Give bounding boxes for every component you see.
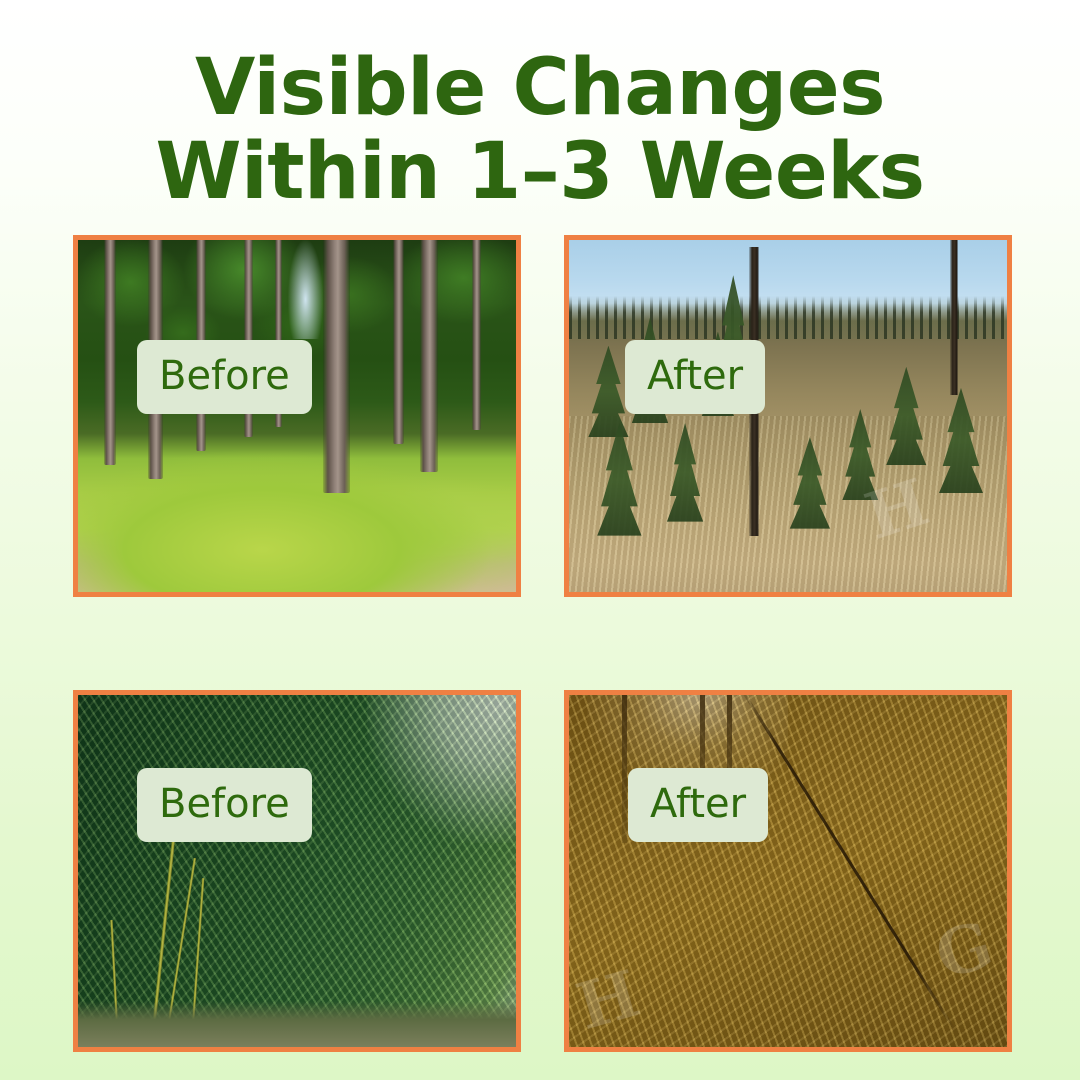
- tree-trunk: [104, 240, 115, 465]
- tree-trunk: [420, 240, 438, 472]
- tree-trunk: [393, 240, 404, 444]
- foreground-trunk: [950, 240, 958, 395]
- ridge-treeline: [569, 296, 1007, 338]
- photo-dry-pine-hillside: H: [569, 240, 1007, 592]
- dead-stalk: [622, 695, 627, 843]
- comparison-bamboo-after-cell: H G: [564, 690, 1012, 1052]
- photo-frame-bamboo-after[interactable]: H G: [564, 690, 1012, 1052]
- page-title: Visible Changes Within 1–3 Weeks: [0, 46, 1080, 214]
- comparison-forest-before-cell: [73, 235, 521, 597]
- bamboo-leaf-texture: [78, 695, 516, 1047]
- comparison-forest-after-cell: H: [564, 235, 1012, 597]
- page-title-line-2: Within 1–3 Weeks: [0, 130, 1080, 214]
- photo-dead-golden-bamboo: H G: [569, 695, 1007, 1047]
- grove-ground: [78, 1001, 516, 1047]
- sky-gap: [288, 240, 323, 339]
- photo-green-pine-forest: [78, 240, 516, 592]
- photo-frame-forest-after[interactable]: H: [564, 235, 1012, 597]
- comparison-bamboo-before-cell: [73, 690, 521, 1052]
- label-badge-bamboo-after: After: [628, 768, 768, 842]
- label-badge-forest-before: Before: [137, 340, 312, 414]
- page-title-line-1: Visible Changes: [0, 46, 1080, 130]
- tree-trunk: [323, 240, 350, 493]
- photo-frame-forest-before[interactable]: [73, 235, 521, 597]
- dried-foliage-texture: [569, 695, 1007, 1047]
- label-badge-forest-after: After: [625, 340, 765, 414]
- tree-trunk: [472, 240, 481, 430]
- label-badge-bamboo-before: Before: [137, 768, 312, 842]
- photo-frame-bamboo-before[interactable]: [73, 690, 521, 1052]
- photo-green-bamboo-grove: [78, 695, 516, 1047]
